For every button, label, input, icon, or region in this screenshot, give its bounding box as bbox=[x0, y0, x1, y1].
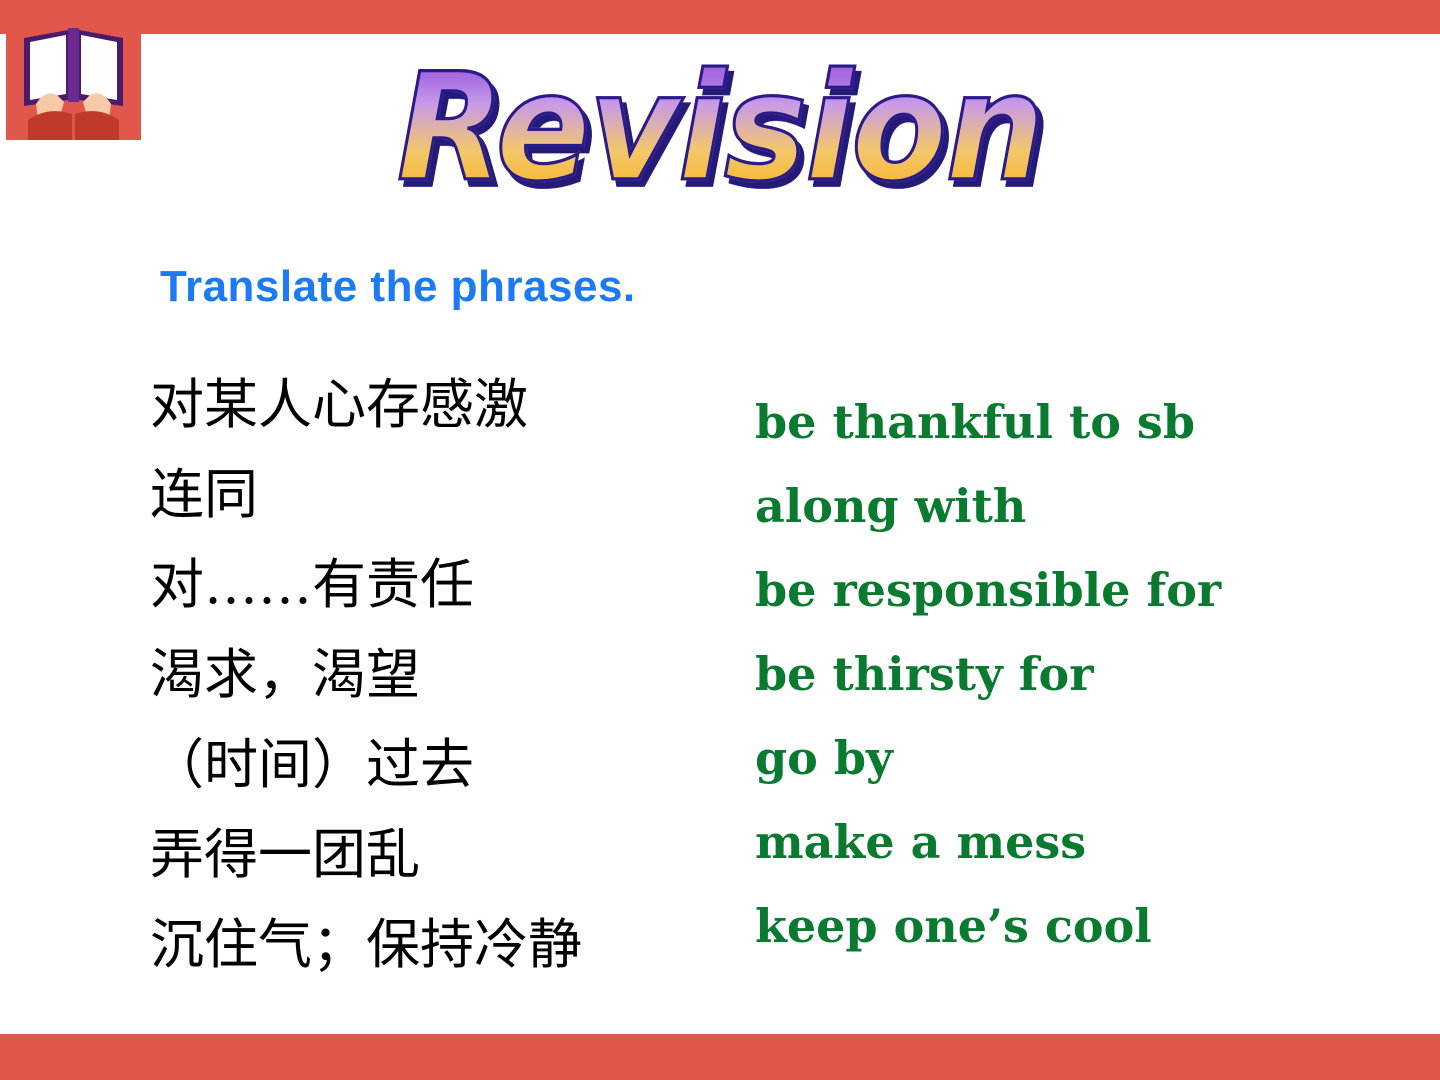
list-item: keep one’s cool bbox=[755, 884, 1415, 968]
list-item: 连同 bbox=[150, 450, 750, 540]
subheading: Translate the phrases. bbox=[160, 262, 636, 312]
list-item: 对某人心存感激 bbox=[150, 360, 750, 450]
english-phrase-column: be thankful to sb along with be responsi… bbox=[755, 380, 1415, 968]
chinese-phrase-column: 对某人心存感激 连同 对……有责任 渴求，渴望 （时间）过去 弄得一团乱 沉住气… bbox=[150, 360, 750, 990]
list-item: 弄得一团乱 bbox=[150, 810, 750, 900]
list-item: 渴求，渴望 bbox=[150, 630, 750, 720]
top-red-bar bbox=[0, 0, 1440, 34]
list-item: along with bbox=[755, 464, 1415, 548]
list-item: be thirsty for bbox=[755, 632, 1415, 716]
list-item: be responsible for bbox=[755, 548, 1415, 632]
slide-title: Revision bbox=[0, 44, 1440, 234]
list-item: go by bbox=[755, 716, 1415, 800]
title-wordart: Revision bbox=[397, 39, 1043, 219]
list-item: make a mess bbox=[755, 800, 1415, 884]
list-item: （时间）过去 bbox=[150, 720, 750, 810]
list-item: 沉住气；保持冷静 bbox=[150, 900, 750, 990]
bottom-red-bar bbox=[0, 1034, 1440, 1080]
slide: Revision Translate the phrases. 对某人心存感激 … bbox=[0, 0, 1440, 1080]
list-item: be thankful to sb bbox=[755, 380, 1415, 464]
list-item: 对……有责任 bbox=[150, 540, 750, 630]
